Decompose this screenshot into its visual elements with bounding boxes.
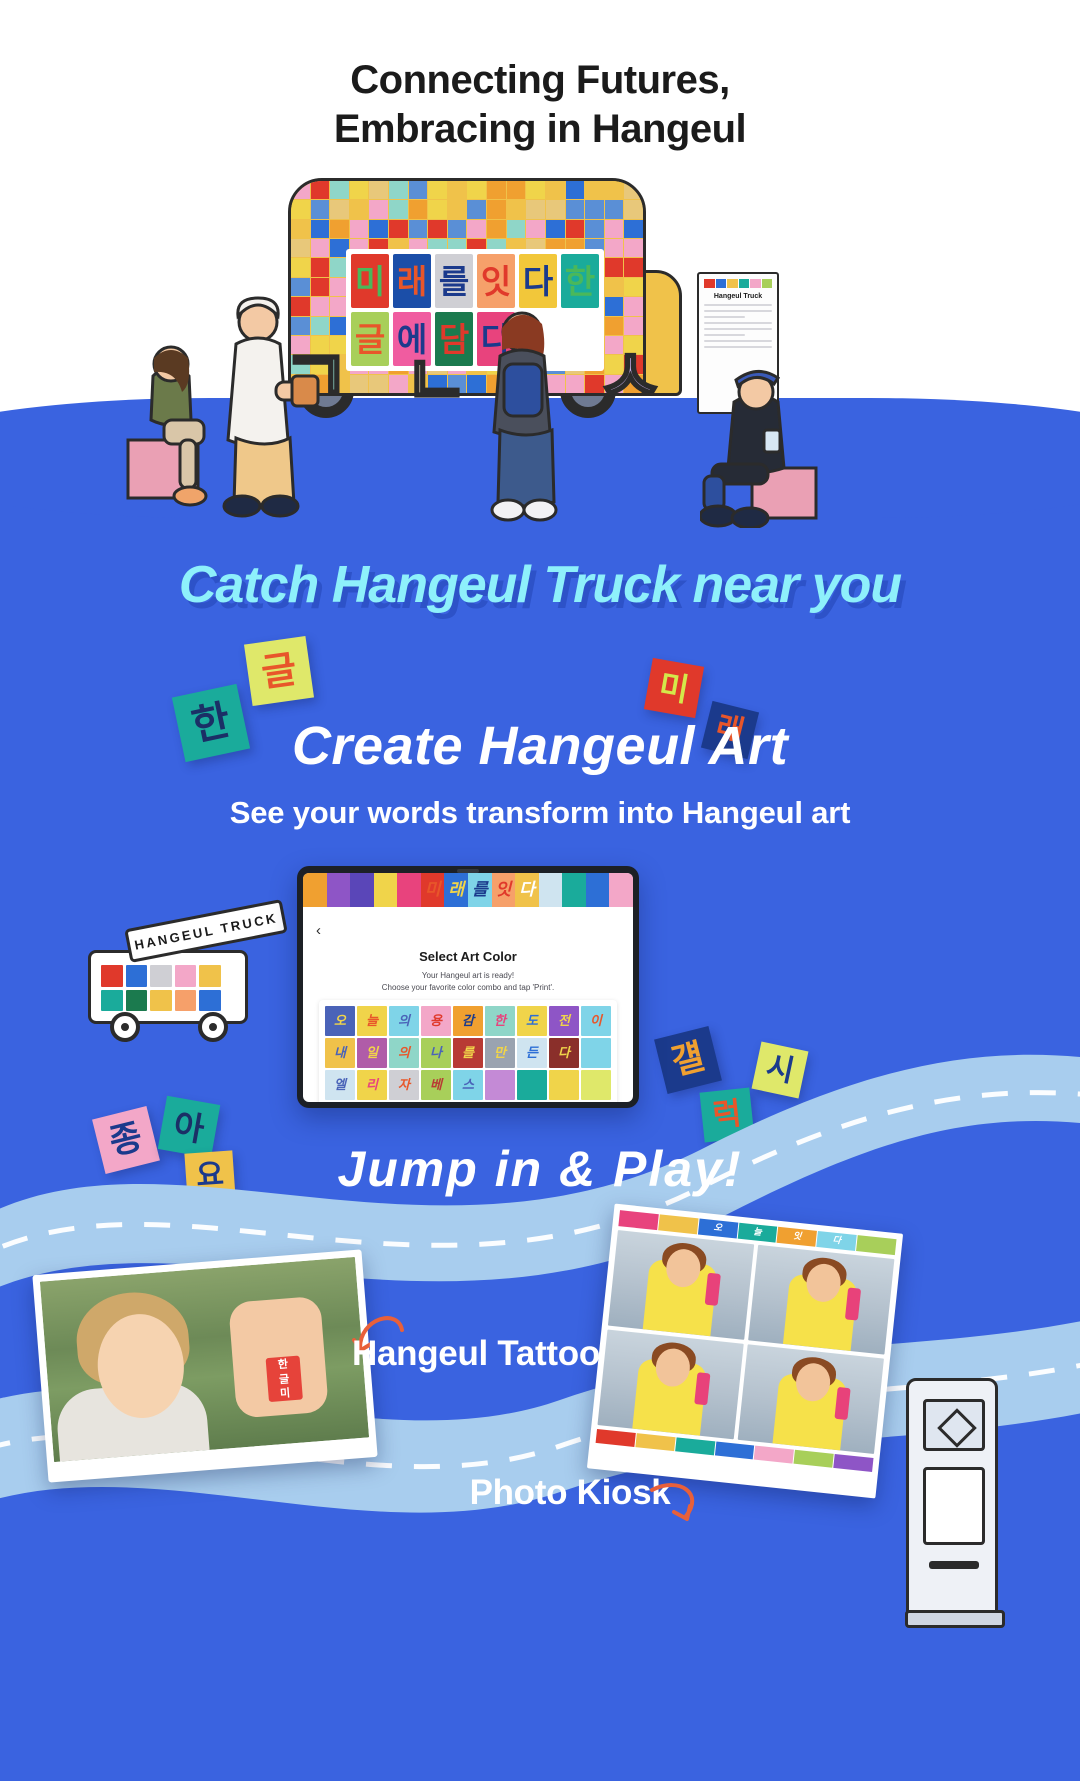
- mosaic-tile: [350, 200, 369, 218]
- art-grid-tile: 엘: [325, 1070, 355, 1100]
- mosaic-tile: [291, 220, 310, 238]
- strip-header-tile: [856, 1235, 896, 1255]
- art-grid-tile: 일: [357, 1038, 387, 1068]
- hangeul-art-grid: 오늘의용감한도전이내일의나를만든다엘리자베스: [325, 1006, 611, 1100]
- mosaic-tile: [566, 220, 585, 238]
- photo-bottle: [694, 1372, 710, 1405]
- art-grid-tile: 한: [485, 1006, 515, 1036]
- kiosk-print-slot: [929, 1561, 979, 1569]
- floating-hangeul-tile: 글: [244, 636, 314, 706]
- poster-text-line: [704, 316, 745, 318]
- art-grid-tile: [517, 1070, 547, 1100]
- mosaic-tile: [350, 181, 369, 199]
- strip-footer-tile: [675, 1437, 715, 1455]
- poster-color-chip: [704, 279, 715, 288]
- art-strip-tile[interactable]: 잇: [492, 873, 516, 907]
- mosaic-tile: [291, 200, 310, 218]
- mosaic-tile: [330, 181, 349, 199]
- mosaic-tile: [369, 200, 388, 218]
- art-strip-tile[interactable]: 래: [444, 873, 468, 907]
- strip-footer-tile: [833, 1454, 873, 1472]
- tablet-screen: 미래를잇다 ‹ Select Art Color Your Hangeul ar…: [303, 873, 633, 1102]
- mosaic-tile: [409, 181, 428, 199]
- mini-truck-color-chip: [126, 965, 148, 987]
- hangeul-art-card[interactable]: 오늘의용감한도전이내일의나를만든다엘리자베스 Today's brave cha…: [319, 1000, 617, 1102]
- mosaic-tile: [448, 220, 467, 238]
- poster-color-chip: [750, 279, 761, 288]
- mosaic-tile: [526, 181, 545, 199]
- tattoo-char: 한: [277, 1358, 288, 1370]
- strip-footer-tile: [596, 1429, 636, 1447]
- strip-footer-tile: [794, 1450, 834, 1468]
- poster-color-chip: [716, 279, 727, 288]
- mosaic-tile: [291, 239, 310, 257]
- poster-title: Hangeul Truck: [704, 293, 772, 300]
- strip-header-tile: [658, 1214, 698, 1234]
- art-grid-tile: 늘: [357, 1006, 387, 1036]
- mosaic-tile: [507, 181, 526, 199]
- back-chevron-icon[interactable]: ‹: [316, 922, 321, 939]
- mosaic-tile: [624, 220, 643, 238]
- mini-truck-color-grid: [101, 965, 221, 1011]
- mini-hangeul-truck: HANGEUL TRUCK: [88, 930, 278, 1050]
- poster-color-chip: [739, 279, 750, 288]
- art-grid-tile: 자: [389, 1070, 419, 1100]
- art-grid-tile: 리: [357, 1070, 387, 1100]
- tablet-desc-line2: Choose your favorite color combo and tap…: [382, 983, 554, 992]
- mosaic-tile: [428, 220, 447, 238]
- mosaic-tile: [291, 258, 310, 276]
- art-strip-tile[interactable]: 를: [468, 873, 492, 907]
- mini-truck-color-chip: [101, 990, 123, 1012]
- art-grid-tile: 도: [517, 1006, 547, 1036]
- poster-color-chip: [762, 279, 773, 288]
- mini-truck-color-chip: [175, 965, 197, 987]
- tablet-screen-description: Your Hangeul art is ready! Choose your f…: [303, 970, 633, 993]
- art-grid-tile: 용: [421, 1006, 451, 1036]
- mini-truck-color-chip: [175, 990, 197, 1012]
- mosaic-tile: [369, 220, 388, 238]
- mosaic-tile: [311, 181, 330, 199]
- mini-truck-color-chip: [126, 990, 148, 1012]
- mosaic-tile: [624, 258, 643, 276]
- art-grid-tile: [549, 1070, 579, 1100]
- tablet-screen-title: Select Art Color: [303, 949, 633, 964]
- art-strip-tile[interactable]: [562, 873, 586, 907]
- hangeul-tattoo-sticker: 한글미: [265, 1356, 302, 1403]
- mosaic-tile: [311, 239, 330, 257]
- mosaic-tile: [605, 278, 624, 296]
- strip-header-tile: [618, 1210, 658, 1230]
- hero-title-line2: Embracing in Hangeul: [0, 105, 1080, 154]
- poster-text-line: [704, 346, 772, 348]
- mosaic-tile: [585, 200, 604, 218]
- art-strip-tile[interactable]: [327, 873, 351, 907]
- mosaic-tile: [428, 200, 447, 218]
- person-standing-white-robe: [206, 290, 326, 520]
- person-standing-center-backpack: [470, 298, 580, 528]
- art-grid-tile: 나: [421, 1038, 451, 1068]
- mosaic-tile: [467, 220, 486, 238]
- page-title: Connecting Futures, Embracing in Hangeul: [0, 56, 1080, 154]
- hangeul-tattoo-photo: 한글미: [32, 1249, 377, 1482]
- photo-bottle: [845, 1287, 861, 1320]
- poster-text-line: [704, 340, 772, 342]
- banner-hangeul-tile: 미: [351, 254, 389, 308]
- mosaic-tile: [624, 317, 643, 335]
- poster-page: Connecting Futures, Embracing in Hangeul…: [0, 0, 1080, 1781]
- mini-truck-body: [88, 950, 248, 1024]
- giant-letter-nieun: ㄴ: [404, 346, 468, 416]
- giant-letter-siot: ㅅ: [596, 340, 664, 414]
- mosaic-tile: [605, 181, 624, 199]
- mini-truck-color-chip: [150, 965, 172, 987]
- art-strip-tile[interactable]: [303, 873, 327, 907]
- art-grid-tile: 내: [325, 1038, 355, 1068]
- mini-truck-color-chip: [150, 990, 172, 1012]
- floating-hangeul-tile: 시: [752, 1042, 809, 1099]
- photo-strip-frame: [608, 1230, 754, 1340]
- kiosk-panel: [923, 1467, 985, 1545]
- mosaic-tile: [585, 220, 604, 238]
- strip-header-tile: 늘: [737, 1223, 777, 1243]
- mini-truck-color-chip: [101, 965, 123, 987]
- poster-text-line: [704, 304, 772, 306]
- art-grid-tile: [581, 1070, 611, 1100]
- photo-strip-frame: [748, 1245, 894, 1355]
- person-sitting-right-phone: [700, 368, 830, 528]
- mosaic-tile: [605, 258, 624, 276]
- mosaic-tile: [624, 297, 643, 315]
- art-grid-tile: [581, 1038, 611, 1068]
- strip-footer-tile: [635, 1433, 675, 1451]
- kiosk-arrow-icon: [646, 1472, 716, 1532]
- mosaic-tile: [624, 239, 643, 257]
- art-strip-tile[interactable]: [350, 873, 374, 907]
- art-color-strip: 미래를잇다: [303, 873, 633, 907]
- mosaic-tile: [624, 278, 643, 296]
- mosaic-tile: [311, 258, 330, 276]
- art-grid-tile: 스: [453, 1070, 483, 1100]
- mosaic-tile: [526, 200, 545, 218]
- poster-text-line: [704, 334, 745, 336]
- mosaic-tile: [409, 220, 428, 238]
- poster-text-line: [704, 310, 772, 312]
- kiosk-base: [905, 1610, 1005, 1628]
- create-art-heading: Create Hangeul Art: [0, 715, 1080, 777]
- mosaic-tile: [605, 200, 624, 218]
- art-grid-tile: 든: [517, 1038, 547, 1068]
- mosaic-tile: [311, 220, 330, 238]
- mosaic-tile: [487, 220, 506, 238]
- art-grid-tile: 전: [549, 1006, 579, 1036]
- mosaic-tile: [585, 181, 604, 199]
- jump-in-play-heading: Jump in & Play!: [0, 1140, 1080, 1198]
- mosaic-tile: [605, 317, 624, 335]
- mini-truck-color-chip: [199, 990, 221, 1012]
- mosaic-tile: [605, 239, 624, 257]
- tablet-device: 미래를잇다 ‹ Select Art Color Your Hangeul ar…: [297, 866, 639, 1108]
- strip-header-tile: 다: [817, 1231, 857, 1251]
- mosaic-tile: [350, 220, 369, 238]
- mosaic-tile: [389, 200, 408, 218]
- mosaic-tile: [546, 181, 565, 199]
- mosaic-tile: [369, 375, 388, 393]
- poster-text-line: [704, 328, 772, 330]
- mosaic-tile: [467, 181, 486, 199]
- hero-title-line1: Connecting Futures,: [350, 58, 729, 102]
- floating-hangeul-tile: 럭: [700, 1088, 755, 1143]
- tattoo-char: 글: [279, 1373, 290, 1385]
- create-art-subheading: See your words transform into Hangeul ar…: [0, 795, 1080, 831]
- art-strip-tile[interactable]: 미: [421, 873, 445, 907]
- tattoo-char: 미: [280, 1388, 291, 1400]
- art-grid-tile: [485, 1070, 515, 1100]
- tablet-desc-line1: Your Hangeul art is ready!: [422, 971, 514, 980]
- mini-truck-wheel-right: [198, 1012, 228, 1042]
- art-strip-tile[interactable]: 다: [515, 873, 539, 907]
- mosaic-tile: [350, 375, 369, 393]
- mosaic-tile: [330, 200, 349, 218]
- art-strip-tile[interactable]: [609, 873, 633, 907]
- art-strip-tile[interactable]: [374, 873, 398, 907]
- mosaic-tile: [566, 181, 585, 199]
- mosaic-tile: [428, 181, 447, 199]
- poster-color-grid: [704, 279, 772, 288]
- mosaic-tile: [291, 181, 310, 199]
- banner-hangeul-tile: 를: [435, 254, 473, 308]
- floating-hangeul-tile: 미: [644, 658, 704, 718]
- art-grid-tile: 를: [453, 1038, 483, 1068]
- photo-bottle: [834, 1387, 850, 1420]
- art-grid-tile: 오: [325, 1006, 355, 1036]
- photo-kiosk-machine: [906, 1378, 998, 1628]
- mosaic-tile: [448, 181, 467, 199]
- art-grid-tile: 베: [421, 1070, 451, 1100]
- photo-strip-frame: [738, 1344, 884, 1454]
- art-grid-tile: 다: [549, 1038, 579, 1068]
- strip-header-tile: 잇: [777, 1227, 817, 1247]
- mosaic-tile: [311, 200, 330, 218]
- mosaic-tile: [546, 200, 565, 218]
- art-grid-tile: 의: [389, 1006, 419, 1036]
- mini-truck-color-chip: [199, 965, 221, 987]
- banner-hangeul-tile: 래: [393, 254, 431, 308]
- mosaic-tile: [467, 200, 486, 218]
- mosaic-tile: [605, 297, 624, 315]
- photo-bottle: [705, 1272, 721, 1305]
- mosaic-tile: [507, 220, 526, 238]
- poster-text-line: [704, 322, 772, 324]
- kiosk-screen: [923, 1399, 985, 1451]
- mosaic-tile: [487, 200, 506, 218]
- catch-truck-heading: Catch Hangeul Truck near you: [0, 555, 1080, 615]
- mini-truck-wheel-left: [110, 1012, 140, 1042]
- mosaic-tile: [389, 181, 408, 199]
- strip-header-tile: 오: [698, 1218, 738, 1238]
- mosaic-tile: [487, 181, 506, 199]
- mosaic-tile: [389, 220, 408, 238]
- art-strip-tile[interactable]: [539, 873, 563, 907]
- mosaic-tile: [605, 220, 624, 238]
- poster-color-chip: [727, 279, 738, 288]
- mosaic-tile: [409, 200, 428, 218]
- tattoo-photo-image: 한글미: [40, 1257, 369, 1462]
- art-grid-tile: 이: [581, 1006, 611, 1036]
- art-grid-tile: 의: [389, 1038, 419, 1068]
- art-grid-tile: 감: [453, 1006, 483, 1036]
- mosaic-tile: [546, 220, 565, 238]
- strip-footer-tile: [714, 1441, 754, 1459]
- hangeul-tattoo-label: Hangeul Tattoo: [352, 1334, 682, 1374]
- art-strip-tile[interactable]: [586, 873, 610, 907]
- art-strip-tile[interactable]: [397, 873, 421, 907]
- mosaic-tile: [507, 200, 526, 218]
- mosaic-tile: [369, 181, 388, 199]
- mosaic-tile: [566, 200, 585, 218]
- mosaic-tile: [330, 220, 349, 238]
- mosaic-tile: [624, 181, 643, 199]
- mosaic-tile: [526, 220, 545, 238]
- art-grid-tile: 만: [485, 1038, 515, 1068]
- mosaic-tile: [624, 200, 643, 218]
- mosaic-tile: [448, 200, 467, 218]
- hangeul-truck-illustration: 미래를잇다한글에담다 Hangeul Truck ㄱ ㄴ ㅅ: [0, 150, 1080, 570]
- banner-hangeul-tile: 글: [351, 312, 389, 366]
- strip-footer-tile: [754, 1446, 794, 1464]
